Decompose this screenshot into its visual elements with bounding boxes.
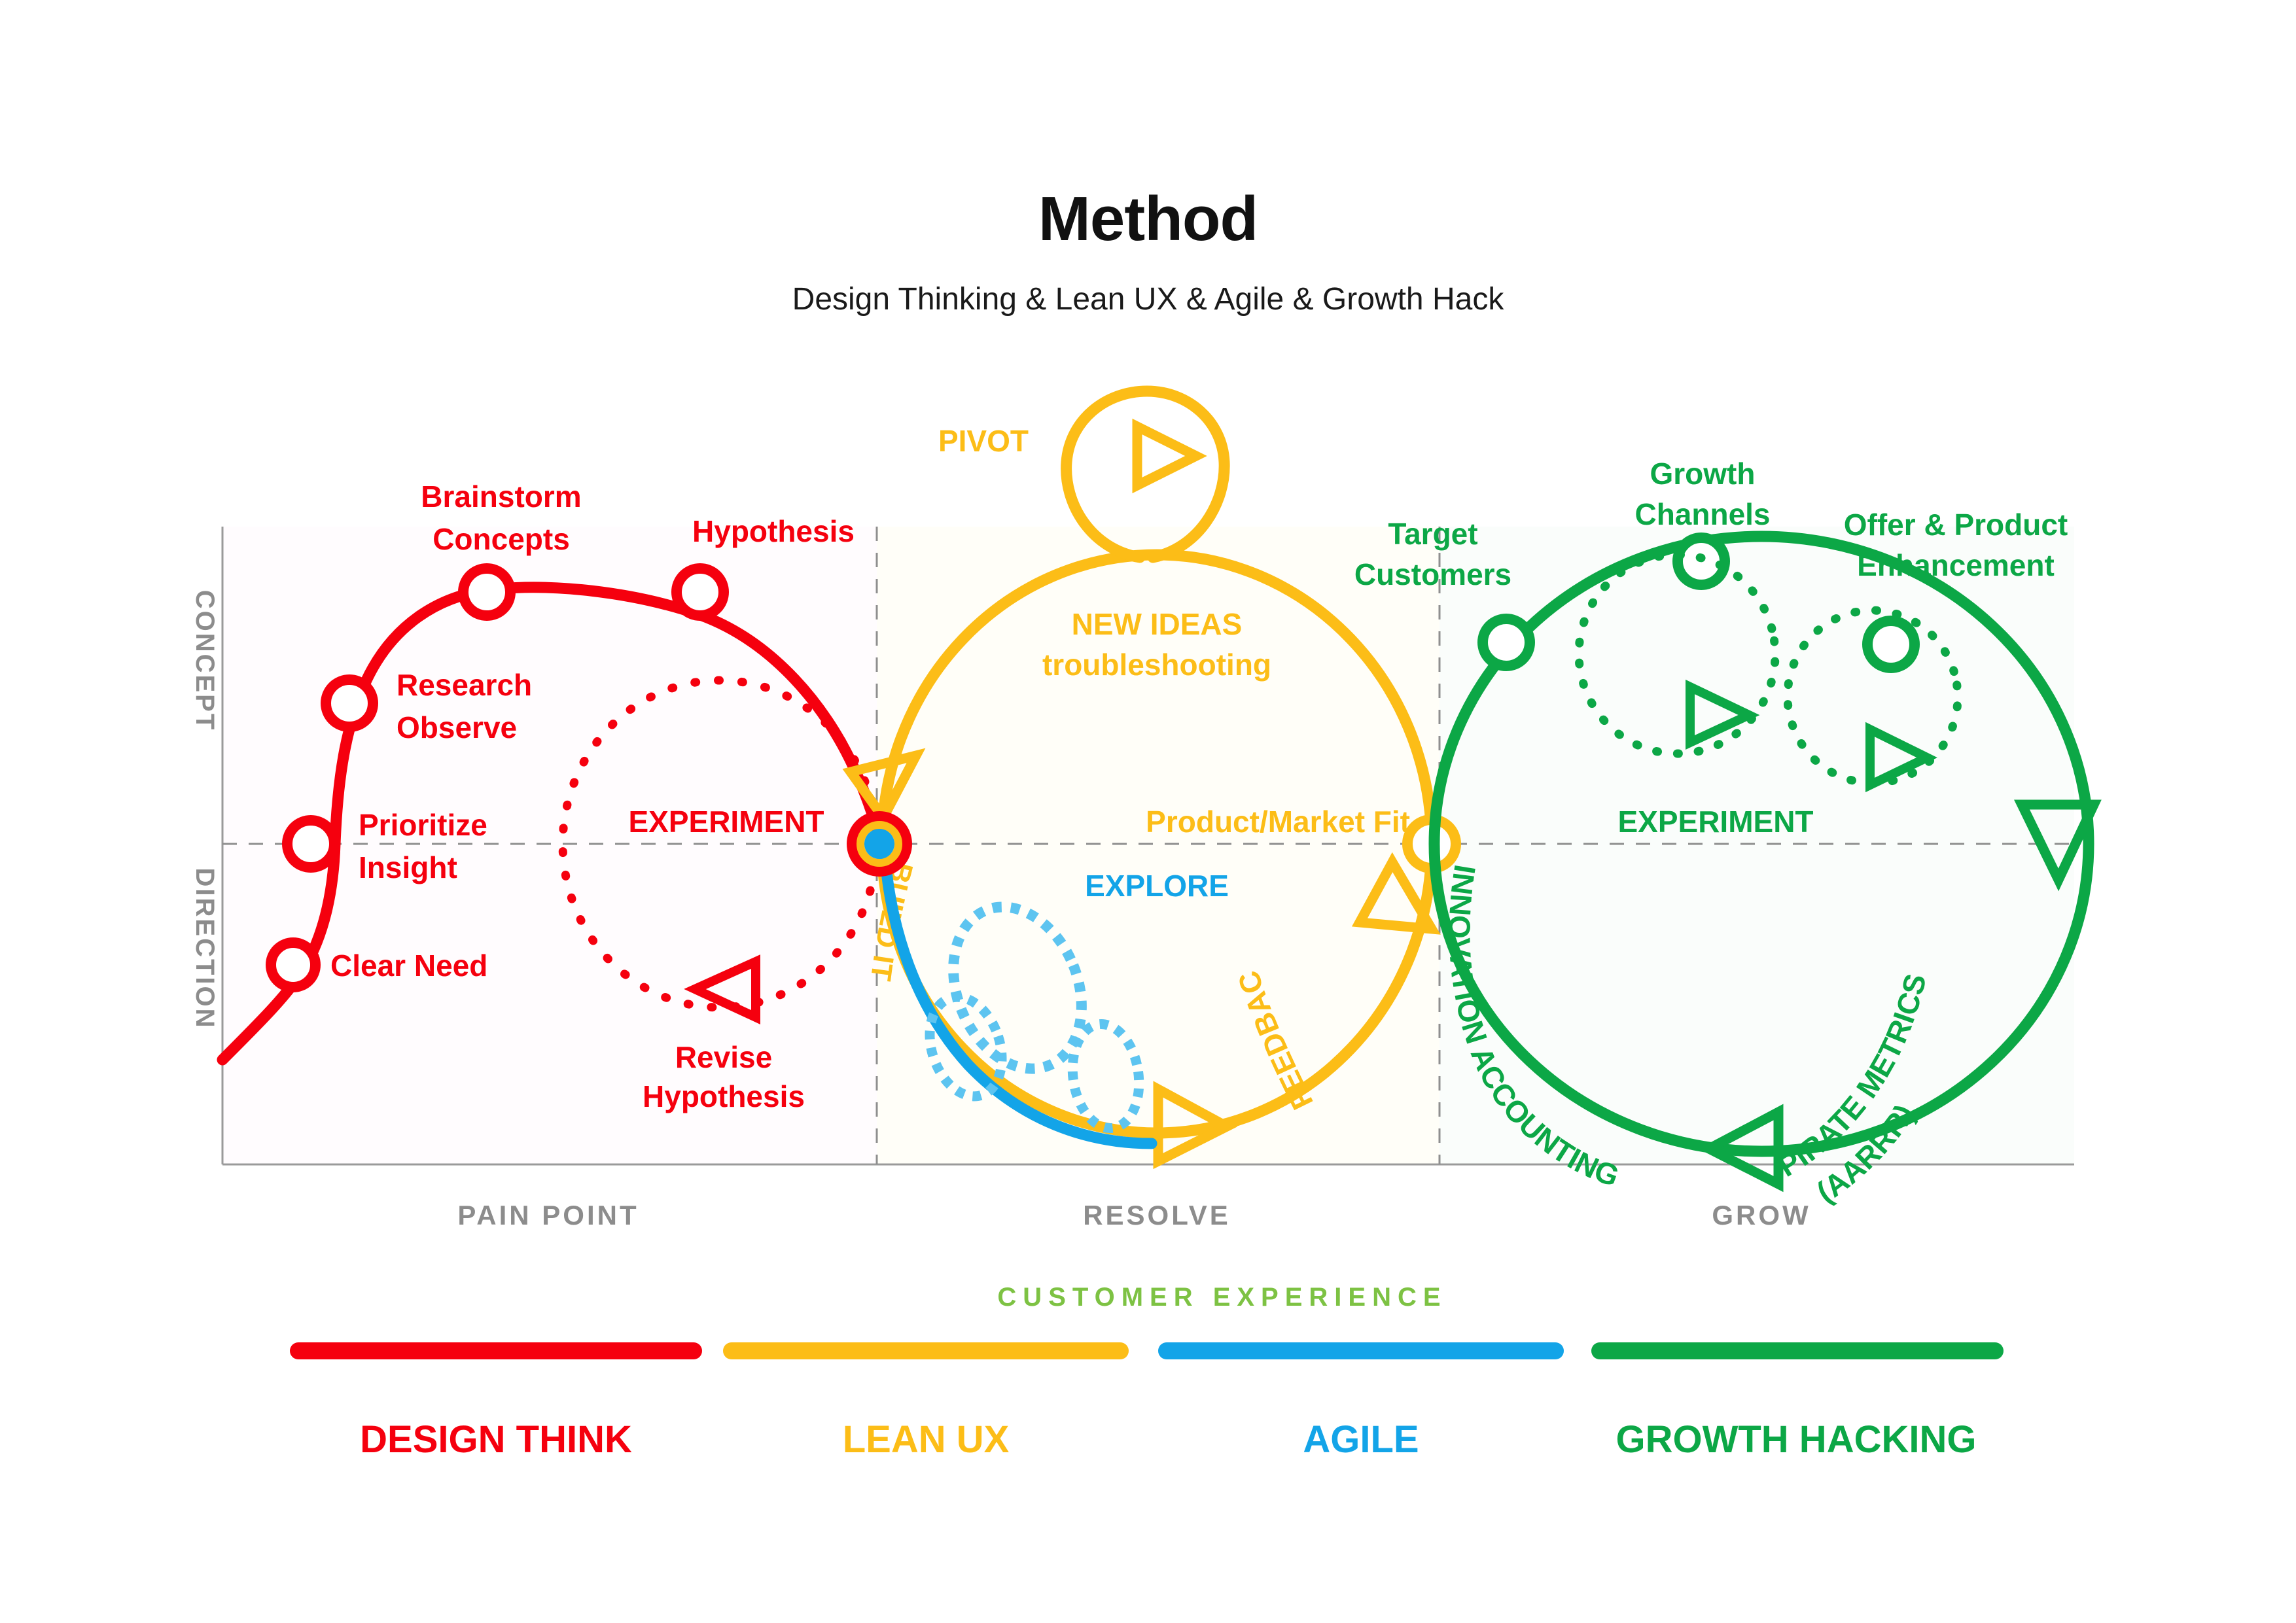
legend-bar-lean-ux xyxy=(723,1342,1129,1359)
legend-label-design-think[interactable]: DESIGN THINK xyxy=(360,1418,632,1461)
legend-bar-growth-hacking xyxy=(1591,1342,2004,1359)
label-product-market-fit: Product/Market Fit xyxy=(1146,805,1410,839)
label-target-customers-line1: Target xyxy=(1388,517,1477,551)
label-offer-enhancement-line1: Offer & Product xyxy=(1844,508,2068,542)
label-prioritize-insight-line1: Prioritize xyxy=(359,808,487,842)
junction-dot[interactable] xyxy=(852,816,907,871)
label-growth-channels-line1: Growth xyxy=(1650,457,1756,491)
diagram-root: Method Design Thinking & Lean UX & Agile… xyxy=(0,0,2296,1623)
label-growth-channels-line2: Channels xyxy=(1634,497,1770,531)
label-prioritize-insight-line2: Insight xyxy=(359,850,457,884)
node-brainstorm-concepts[interactable] xyxy=(463,568,510,616)
label-revise-hypothesis-line2: Hypothesis xyxy=(643,1079,805,1113)
legend-group: CUSTOMER EXPERIENCE DESIGN THINK LEAN UX… xyxy=(290,1283,2004,1461)
method-diagram-svg: .t{font-family:"Liberation Sans",sans-se… xyxy=(0,0,2296,1623)
label-design-think-experiment: EXPERIMENT xyxy=(628,805,824,839)
y-axis-label-concept: CONCEPT xyxy=(190,590,219,732)
legend-customer-experience: CUSTOMER EXPERIENCE xyxy=(997,1283,1447,1312)
label-troubleshooting: troubleshooting xyxy=(1042,648,1271,682)
label-offer-enhancement-line2: Enhancement xyxy=(1857,548,2055,582)
legend-label-lean-ux[interactable]: LEAN UX xyxy=(843,1418,1010,1461)
node-target-customers[interactable] xyxy=(1483,619,1530,666)
x-axis-label-pain-point: PAIN POINT xyxy=(457,1200,639,1230)
legend-label-agile[interactable]: AGILE xyxy=(1303,1418,1419,1461)
label-new-ideas: NEW IDEAS xyxy=(1072,607,1243,641)
node-prioritize-insight[interactable] xyxy=(287,820,334,867)
label-brainstorm-concepts-line1: Brainstorm xyxy=(421,480,581,514)
legend-label-growth-hacking[interactable]: GROWTH HACKING xyxy=(1616,1418,1977,1461)
legend-bar-agile xyxy=(1158,1342,1564,1359)
label-research-observe-line2: Observe xyxy=(397,710,517,744)
node-offer-product-enhancement[interactable] xyxy=(1867,621,1915,668)
label-target-customers-line2: Customers xyxy=(1354,557,1511,591)
label-explore: EXPLORE xyxy=(1085,869,1229,903)
node-research-observe[interactable] xyxy=(326,680,373,727)
pivot-arrowhead xyxy=(1137,427,1196,485)
legend-bar-design-think xyxy=(290,1342,702,1359)
label-clear-need: Clear Need xyxy=(330,949,487,983)
label-pivot: PIVOT xyxy=(938,424,1029,458)
x-axis-label-grow: GROW xyxy=(1712,1200,1810,1230)
x-axis-label-resolve: RESOLVE xyxy=(1083,1200,1231,1230)
label-research-observe-line1: Research xyxy=(397,668,532,702)
label-growth-experiment: EXPERIMENT xyxy=(1617,805,1813,839)
label-revise-hypothesis-line1: Revise xyxy=(675,1040,772,1074)
node-hypothesis[interactable] xyxy=(677,568,724,616)
label-hypothesis: Hypothesis xyxy=(692,514,855,548)
label-brainstorm-concepts-line2: Concepts xyxy=(433,522,570,556)
y-axis-label-direction: DIRECTION xyxy=(190,868,219,1030)
node-clear-need[interactable] xyxy=(271,943,315,987)
